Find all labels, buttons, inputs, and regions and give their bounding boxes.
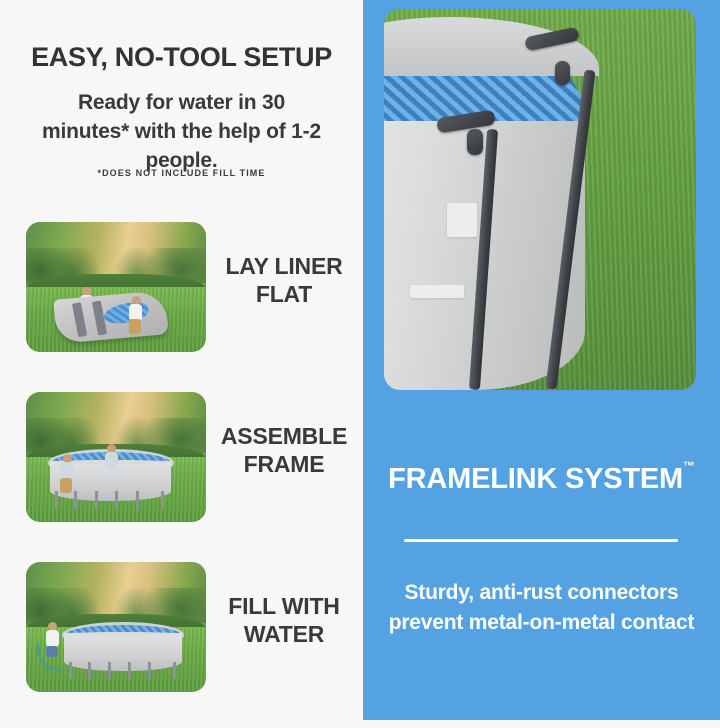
setup-summary-text: Ready for water in 30 minutes* with the …: [34, 88, 329, 175]
framelink-connector: [555, 61, 570, 85]
setup-steps-panel: EASY, NO-TOOL SETUP Ready for water in 3…: [0, 0, 363, 720]
list-item: LAY LINER FLAT: [0, 218, 363, 388]
step-image-fill-with-water: [26, 562, 206, 692]
page-title: EASY, NO-TOOL SETUP: [0, 42, 363, 73]
framelink-connector: [467, 129, 483, 155]
infographic-page: EASY, NO-TOOL SETUP Ready for water in 3…: [0, 0, 720, 720]
pool-frame-graphic: [62, 622, 184, 679]
step-label: FILL WITH WATER: [210, 592, 358, 648]
divider: [404, 539, 678, 542]
step-label: LAY LINER FLAT: [210, 252, 358, 308]
setup-step-list: LAY LINER FLAT: [0, 218, 363, 728]
liner-strap: [410, 285, 464, 298]
liner-strap: [447, 203, 477, 237]
list-item: ASSEMBLE FRAME: [0, 388, 363, 558]
step-label: ASSEMBLE FRAME: [210, 422, 358, 478]
brand-name-text: FRAMELINK SYSTEM: [388, 463, 683, 495]
hero-product-image: [384, 9, 696, 390]
brand-name: FRAMELINK SYSTEM™: [363, 449, 720, 497]
feature-description: Sturdy, anti-rust connectors prevent met…: [381, 578, 702, 638]
step-image-assemble-frame: [26, 392, 206, 522]
list-item: FILL WITH WATER: [0, 558, 363, 728]
fill-time-footnote: *DOES NOT INCLUDE FILL TIME: [0, 168, 363, 178]
trademark-symbol: ™: [683, 459, 695, 473]
framelink-system-panel: FRAMELINK SYSTEM™ Sturdy, anti-rust conn…: [363, 0, 720, 720]
step-image-lay-liner-flat: [26, 222, 206, 352]
